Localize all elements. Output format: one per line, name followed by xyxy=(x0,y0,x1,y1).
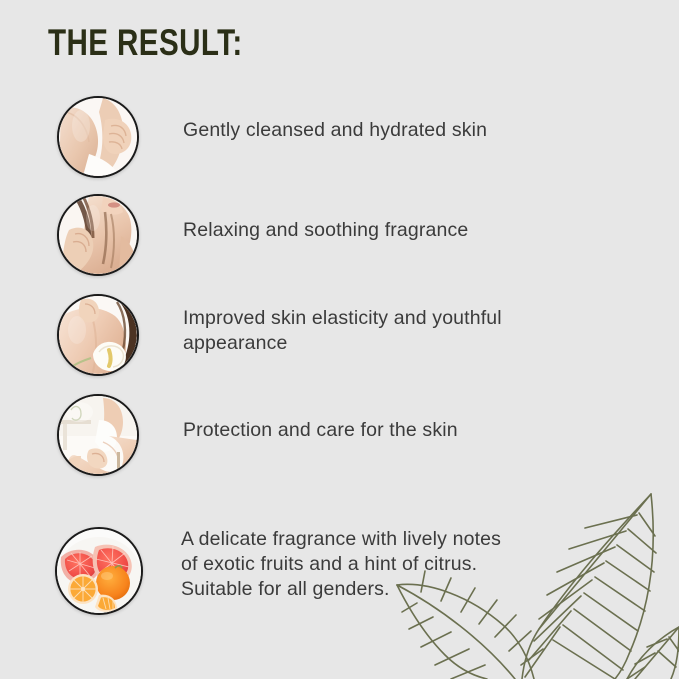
list-item: Protection and care for the skin xyxy=(0,394,600,476)
shoulder-lotion-photo xyxy=(57,96,139,178)
back-with-lily-photo xyxy=(57,294,139,376)
citrus-fruits-photo xyxy=(55,527,143,615)
result-benefits-panel: THE RESULT: xyxy=(0,0,679,679)
list-item: A delicate fragrance with lively notes o… xyxy=(0,527,600,615)
list-item: Gently cleansed and hydrated skin xyxy=(0,96,600,178)
leg-care-photo xyxy=(57,394,139,476)
list-item-label: Improved skin elasticity and youthful ap… xyxy=(183,306,502,356)
benefit-list: Gently cleansed and hydrated skin xyxy=(0,0,679,679)
list-item-label: A delicate fragrance with lively notes o… xyxy=(181,527,501,602)
list-item-label: Protection and care for the skin xyxy=(183,418,458,443)
list-item-label: Gently cleansed and hydrated skin xyxy=(183,118,487,143)
neck-relax-photo xyxy=(57,194,139,276)
list-item: Improved skin elasticity and youthful ap… xyxy=(0,294,600,376)
list-item: Relaxing and soothing fragrance xyxy=(0,194,600,276)
list-item-label: Relaxing and soothing fragrance xyxy=(183,218,468,243)
